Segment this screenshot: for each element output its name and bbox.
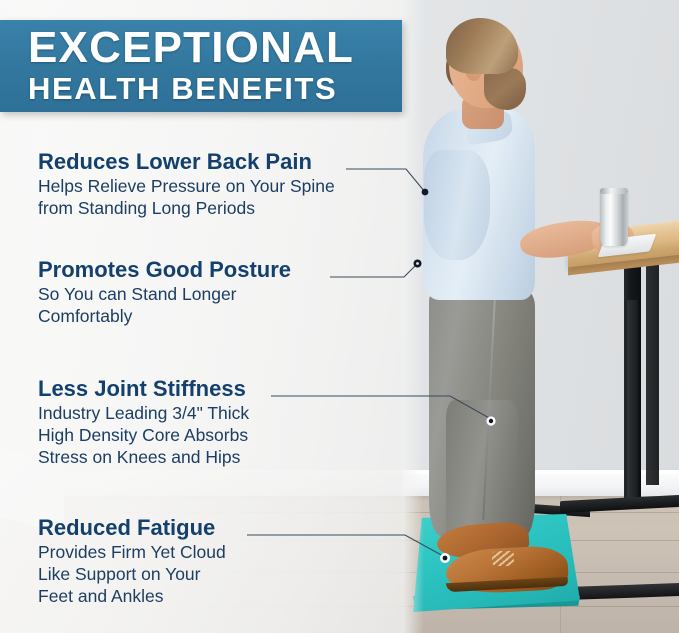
header-banner: EXCEPTIONAL HEALTH BENEFITS: [0, 20, 402, 112]
benefit-line-2-1: So You can Stand Longer: [38, 284, 291, 305]
person-beard: [484, 68, 526, 110]
benefit-line-1-2: from Standing Long Periods: [38, 198, 335, 219]
desk-leg-rear: [646, 250, 659, 485]
benefit-block-4: Reduced Fatigue Provides Firm Yet Cloud …: [38, 516, 226, 607]
benefit-line-1-1: Helps Relieve Pressure on Your Spine: [38, 176, 335, 197]
benefit-line-4-1: Provides Firm Yet Cloud: [38, 542, 226, 563]
benefit-heading-4: Reduced Fatigue: [38, 516, 226, 541]
person-sleeve: [424, 150, 490, 260]
benefit-line-3-2: High Density Core Absorbs: [38, 425, 249, 446]
benefit-heading-3: Less Joint Stiffness: [38, 377, 249, 402]
person-shoe-laces: [492, 551, 514, 566]
benefit-line-4-2: Like Support on Your: [38, 564, 226, 585]
benefit-block-3: Less Joint Stiffness Industry Leading 3/…: [38, 377, 249, 468]
benefit-line-3-3: Stress on Knees and Hips: [38, 447, 249, 468]
benefit-line-4-3: Feet and Ankles: [38, 586, 226, 607]
tumbler-cup: [600, 188, 628, 246]
benefit-block-2: Promotes Good Posture So You can Stand L…: [38, 258, 291, 327]
banner-title-line2: HEALTH BENEFITS: [28, 73, 337, 104]
banner-title-line1: EXCEPTIONAL: [28, 26, 354, 70]
infographic-canvas: EXCEPTIONAL HEALTH BENEFITS Reduces Lowe…: [0, 0, 679, 633]
benefit-heading-2: Promotes Good Posture: [38, 258, 291, 283]
benefit-heading-1: Reduces Lower Back Pain: [38, 150, 335, 175]
benefit-line-2-2: Comfortably: [38, 306, 291, 327]
text-panel-fade-edge: [402, 0, 424, 633]
benefit-block-1: Reduces Lower Back Pain Helps Relieve Pr…: [38, 150, 335, 219]
benefit-line-3-1: Industry Leading 3/4" Thick: [38, 403, 249, 424]
desk-leg-column: [627, 300, 638, 505]
